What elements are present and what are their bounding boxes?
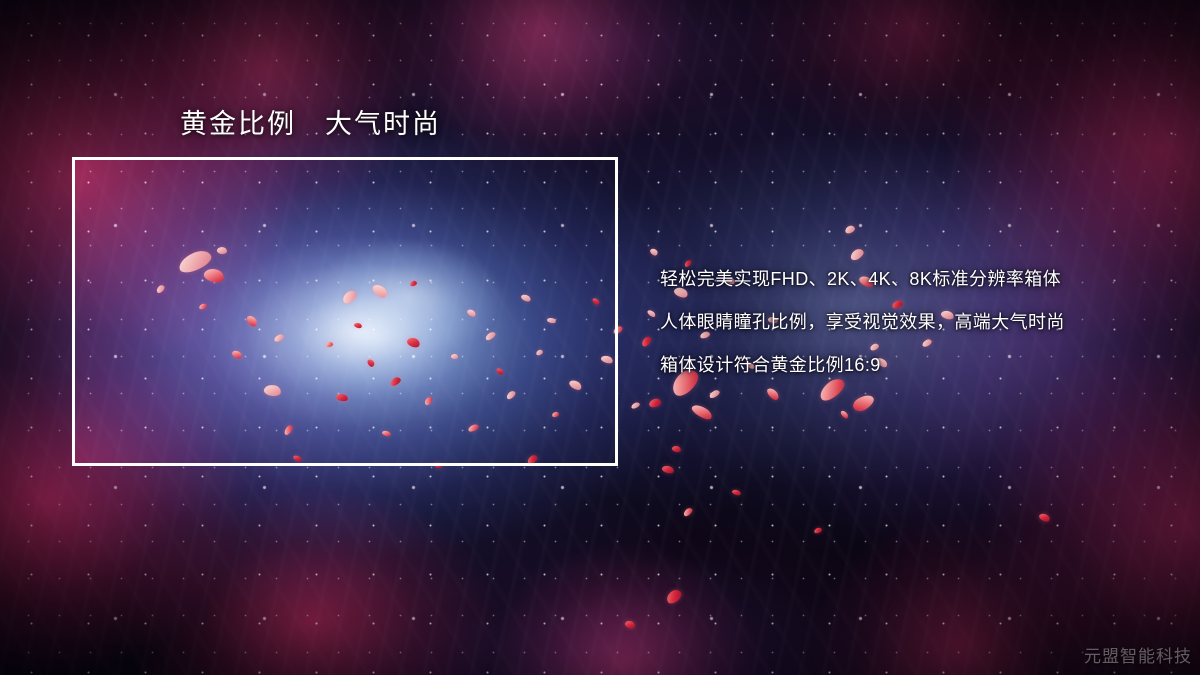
body-line-3: 箱体设计符合黄金比例16:9 (660, 344, 1180, 387)
framed-nebula-wisp (72, 157, 618, 466)
flower-petal (671, 444, 681, 452)
flower-petal (466, 308, 477, 318)
flower-petal (765, 386, 780, 402)
flower-petal (1038, 512, 1051, 523)
flower-petal (682, 506, 694, 517)
flower-petal (690, 402, 714, 422)
framed-starfield-fine (72, 157, 618, 466)
flower-petal (263, 383, 282, 397)
flower-petal (340, 288, 358, 305)
flower-petal (536, 349, 544, 356)
flower-petal (155, 284, 166, 294)
flower-petal (600, 355, 614, 366)
flower-petal (199, 303, 208, 310)
flower-petal (335, 393, 348, 403)
flower-petal (568, 378, 583, 392)
flower-petal (526, 453, 539, 465)
flower-petal (406, 336, 422, 350)
flower-petal (230, 349, 242, 360)
flower-petal (520, 293, 532, 303)
framed-starfield-small (72, 157, 618, 466)
flower-petal (612, 325, 618, 335)
flower-petal (423, 396, 434, 407)
flower-petal (506, 389, 518, 400)
flower-petal (664, 588, 683, 606)
flower-petal (840, 409, 849, 419)
flower-petal (648, 398, 661, 408)
flower-petal (434, 462, 443, 466)
body-line-1: 轻松完美实现FHD、2K、4K、8K标准分辨率箱体 (660, 258, 1180, 301)
flower-petal (844, 225, 856, 235)
flower-petal (389, 376, 402, 387)
flower-petal (547, 317, 557, 324)
picture-frame-scene (72, 157, 618, 466)
flower-petal (640, 335, 653, 348)
flower-petal (326, 341, 334, 347)
body-line-2: 人体眼睛瞳孔比例，享受视觉效果，高端大气时尚 (660, 301, 1180, 344)
flower-petal (649, 247, 659, 257)
flower-petal (624, 619, 636, 629)
flower-petal (552, 412, 560, 418)
flower-petal (631, 401, 641, 409)
flower-petal (484, 330, 497, 341)
flower-petal (708, 389, 721, 399)
page-title: 黄金比例 大气时尚 (180, 102, 441, 141)
flower-petal (367, 358, 376, 368)
slide-canvas: 黄金比例 大气时尚 轻松完美实现FHD、2K、4K、8K标准分辨率箱体 人体眼睛… (0, 0, 1200, 675)
flower-petal (851, 392, 877, 415)
body-text-block: 轻松完美实现FHD、2K、4K、8K标准分辨率箱体 人体眼睛瞳孔比例，享受视觉效… (660, 258, 1180, 387)
flower-petal (292, 454, 302, 463)
flower-petal (646, 308, 656, 318)
flower-petal (371, 282, 390, 300)
flower-petal (217, 246, 228, 255)
flower-petal (353, 321, 362, 328)
flower-petal (381, 429, 391, 437)
flower-petal (467, 424, 479, 433)
flower-petal (662, 464, 676, 474)
framed-nebula-base (72, 157, 618, 466)
framed-nebula-core (72, 157, 618, 466)
flower-petal (273, 333, 285, 343)
framed-nebula-crimson (72, 157, 618, 466)
flower-petal (283, 424, 295, 436)
flower-petal (591, 297, 600, 306)
flower-petal (245, 313, 258, 327)
flower-petal (495, 366, 504, 375)
flower-petal (451, 354, 459, 360)
flower-petal (202, 266, 225, 285)
flower-petal (176, 247, 214, 275)
flower-petal (410, 281, 418, 288)
flower-petal (731, 489, 741, 497)
framed-starfield-bright (72, 157, 618, 466)
watermark-label: 元盟智能科技 (1084, 642, 1192, 667)
framed-petal-field (72, 157, 618, 466)
flower-petal (813, 527, 822, 534)
picture-frame (72, 157, 618, 466)
framed-nebula-violet (72, 157, 618, 466)
